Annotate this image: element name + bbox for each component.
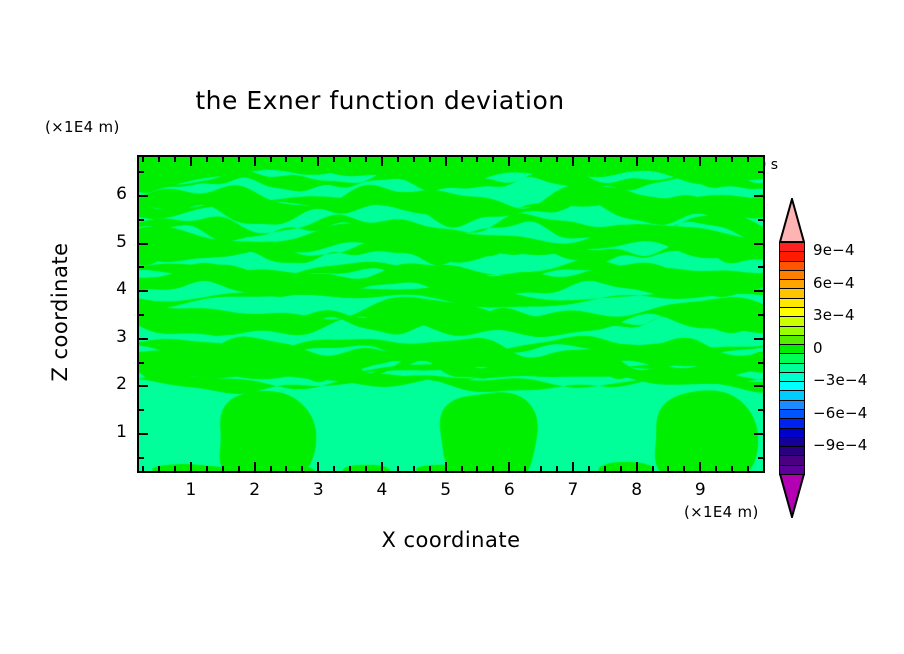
x-tick-label: 1 <box>176 480 206 500</box>
x-tick-minor-top <box>158 157 160 162</box>
x-axis-unit-label: (×1E4 m) <box>684 503 759 521</box>
x-tick-minor <box>174 466 176 471</box>
x-tick-minor-top <box>524 157 526 162</box>
x-tick-minor-top <box>397 157 399 162</box>
y-tick-major-right <box>754 433 763 435</box>
x-tick-label: 5 <box>431 480 461 500</box>
y-tick-label: 2 <box>97 374 127 394</box>
x-tick-major-top <box>190 157 192 166</box>
x-tick-minor-top <box>556 157 558 162</box>
y-tick-major-right <box>754 195 763 197</box>
y-tick-minor <box>139 457 144 459</box>
colorbar-tick-label: 0 <box>813 339 823 357</box>
x-tick-minor-top <box>222 157 224 162</box>
colorbar-tick-label: 9e−4 <box>813 241 855 259</box>
x-tick-minor-top <box>365 157 367 162</box>
colorbar-tick-label: −3e−4 <box>813 371 867 389</box>
x-tick-minor-top <box>604 157 606 162</box>
x-tick-minor <box>285 466 287 471</box>
x-tick-major <box>508 462 510 471</box>
x-tick-minor <box>715 466 717 471</box>
colorbar-tick-label: −6e−4 <box>813 404 867 422</box>
x-tick-minor-top <box>349 157 351 162</box>
x-tick-minor <box>747 466 749 471</box>
x-tick-minor-top <box>429 157 431 162</box>
x-tick-major <box>763 462 765 471</box>
x-tick-minor-top <box>301 157 303 162</box>
x-tick-minor-top <box>620 157 622 162</box>
x-tick-major <box>572 462 574 471</box>
y-axis-unit-label: (×1E4 m) <box>45 118 120 136</box>
y-tick-minor <box>139 409 144 411</box>
x-tick-minor <box>461 466 463 471</box>
x-tick-minor <box>588 466 590 471</box>
y-tick-major <box>139 338 148 340</box>
x-tick-minor-top <box>285 157 287 162</box>
x-tick-minor-top <box>270 157 272 162</box>
x-tick-minor-top <box>588 157 590 162</box>
x-tick-minor-top <box>174 157 176 162</box>
x-tick-minor <box>349 466 351 471</box>
colorbar-tick-label: 3e−4 <box>813 306 855 324</box>
y-axis-title: Z coordinate <box>48 222 72 402</box>
x-tick-major <box>445 462 447 471</box>
y-tick-major <box>139 385 148 387</box>
x-tick-minor-top <box>206 157 208 162</box>
x-tick-minor <box>301 466 303 471</box>
x-tick-label: 7 <box>558 480 588 500</box>
y-tick-minor <box>139 219 144 221</box>
x-tick-minor <box>476 466 478 471</box>
y-tick-label: 3 <box>97 327 127 347</box>
x-tick-minor <box>652 466 654 471</box>
colorbar-tick-label: −9e−4 <box>813 436 867 454</box>
x-tick-minor-top <box>492 157 494 162</box>
x-tick-minor-top <box>731 157 733 162</box>
x-tick-major-top <box>636 157 638 166</box>
x-tick-minor <box>556 466 558 471</box>
x-tick-minor-top <box>747 157 749 162</box>
y-tick-minor <box>139 266 144 268</box>
colorbar: 9e−46e−43e−40−3e−4−6e−4−9e−4 <box>779 242 805 474</box>
x-tick-label: 3 <box>303 480 333 500</box>
x-tick-minor <box>365 466 367 471</box>
x-tick-minor <box>524 466 526 471</box>
x-tick-minor <box>222 466 224 471</box>
y-tick-major-right <box>754 290 763 292</box>
x-tick-minor-top <box>413 157 415 162</box>
y-tick-minor-right <box>758 314 763 316</box>
x-axis-title: X coordinate <box>137 528 765 552</box>
x-tick-minor <box>270 466 272 471</box>
x-tick-minor <box>429 466 431 471</box>
x-tick-minor <box>158 466 160 471</box>
x-tick-minor <box>492 466 494 471</box>
x-tick-label: 2 <box>240 480 270 500</box>
x-tick-minor <box>413 466 415 471</box>
x-tick-minor <box>667 466 669 471</box>
x-tick-major-top <box>445 157 447 166</box>
y-tick-minor-right <box>758 457 763 459</box>
x-tick-minor-top <box>333 157 335 162</box>
x-tick-minor-top <box>540 157 542 162</box>
x-tick-major-top <box>763 157 765 166</box>
x-tick-label: 4 <box>367 480 397 500</box>
y-tick-minor-right <box>758 171 763 173</box>
colorbar-top-arrow <box>779 198 805 242</box>
x-tick-major-top <box>317 157 319 166</box>
y-tick-minor-right <box>758 266 763 268</box>
x-tick-major <box>636 462 638 471</box>
x-tick-label: 8 <box>622 480 652 500</box>
x-tick-label: 6 <box>494 480 524 500</box>
y-tick-minor <box>139 314 144 316</box>
page-title: the Exner function deviation <box>0 86 760 115</box>
colorbar-bottom-arrow <box>779 474 805 518</box>
x-tick-minor <box>620 466 622 471</box>
x-tick-minor-top <box>238 157 240 162</box>
y-tick-major <box>139 290 148 292</box>
x-tick-major <box>190 462 192 471</box>
x-tick-major <box>254 462 256 471</box>
x-tick-label: 9 <box>685 480 715 500</box>
y-tick-major <box>139 195 148 197</box>
x-tick-minor-top <box>461 157 463 162</box>
contour-field <box>139 157 763 471</box>
y-tick-major <box>139 433 148 435</box>
x-tick-minor-top <box>142 157 144 162</box>
x-tick-minor-top <box>715 157 717 162</box>
x-tick-minor <box>683 466 685 471</box>
y-tick-major <box>139 243 148 245</box>
contour-plot-area <box>137 155 765 473</box>
x-tick-minor <box>604 466 606 471</box>
x-tick-major-top <box>381 157 383 166</box>
x-tick-minor <box>142 466 144 471</box>
x-tick-major <box>699 462 701 471</box>
x-tick-major-top <box>699 157 701 166</box>
y-tick-label: 5 <box>97 232 127 252</box>
x-tick-major-top <box>508 157 510 166</box>
x-tick-minor <box>206 466 208 471</box>
y-tick-minor-right <box>758 219 763 221</box>
x-tick-minor <box>397 466 399 471</box>
y-tick-label: 4 <box>97 279 127 299</box>
x-tick-minor-top <box>667 157 669 162</box>
y-tick-minor <box>139 171 144 173</box>
colorbar-tick-label: 6e−4 <box>813 274 855 292</box>
x-tick-minor <box>333 466 335 471</box>
x-tick-minor-top <box>683 157 685 162</box>
x-tick-minor <box>238 466 240 471</box>
x-tick-minor-top <box>652 157 654 162</box>
x-tick-major <box>317 462 319 471</box>
y-tick-major-right <box>754 338 763 340</box>
x-tick-major-top <box>572 157 574 166</box>
y-tick-label: 1 <box>97 422 127 442</box>
y-tick-minor <box>139 362 144 364</box>
x-tick-major <box>381 462 383 471</box>
y-tick-label: 6 <box>97 184 127 204</box>
x-tick-minor-top <box>476 157 478 162</box>
x-tick-minor <box>731 466 733 471</box>
x-tick-major-top <box>254 157 256 166</box>
y-tick-major-right <box>754 385 763 387</box>
y-tick-major-right <box>754 243 763 245</box>
y-tick-minor-right <box>758 362 763 364</box>
x-tick-minor <box>540 466 542 471</box>
y-tick-minor-right <box>758 409 763 411</box>
